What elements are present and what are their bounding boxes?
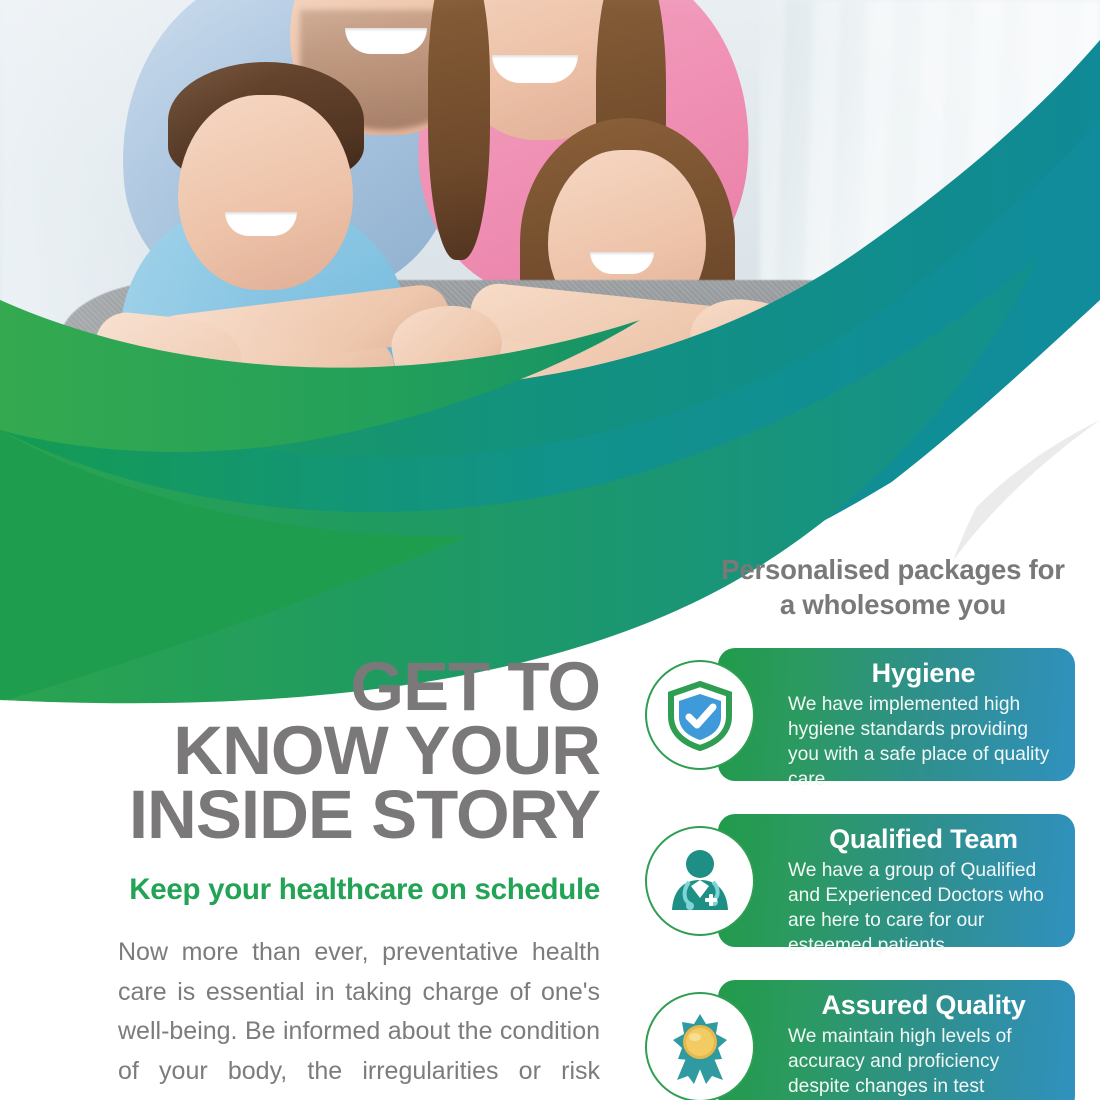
packages-title: Personalised packages for a wholesome yo… — [645, 552, 1075, 622]
package-card-hygiene[interactable]: Hygiene We have implemented high hygiene… — [645, 648, 1075, 788]
left-text-column: GET TO KNOW YOUR INSIDE STORY Keep your … — [118, 655, 600, 1100]
card-body: Qualified Team We have a group of Qualif… — [718, 814, 1075, 947]
packages-title-line-2: a wholesome you — [780, 589, 1006, 620]
doctor-icon — [645, 826, 755, 936]
packages-title-line-1: Personalised packages for — [721, 554, 1065, 585]
card-body: Assured Quality We maintain high levels … — [718, 980, 1075, 1100]
packages-column: Personalised packages for a wholesome yo… — [645, 552, 1075, 1100]
card-title: Hygiene — [788, 659, 1059, 689]
card-title: Assured Quality — [788, 991, 1059, 1021]
card-description: We have a group of Qualified and Experie… — [788, 859, 1059, 959]
package-card-assured-quality[interactable]: Assured Quality We maintain high levels … — [645, 980, 1075, 1100]
package-card-qualified-team[interactable]: Qualified Team We have a group of Qualif… — [645, 814, 1075, 954]
page-title: GET TO KNOW YOUR INSIDE STORY — [118, 655, 600, 847]
card-body: Hygiene We have implemented high hygiene… — [718, 648, 1075, 781]
shield-check-icon — [645, 660, 755, 770]
headline-line-3: INSIDE STORY — [129, 776, 600, 853]
card-description: We maintain high levels of accuracy and … — [788, 1025, 1059, 1100]
card-title: Qualified Team — [788, 825, 1059, 855]
card-description: We have implemented high hygiene standar… — [788, 693, 1059, 793]
subheading: Keep your healthcare on schedule — [118, 873, 600, 907]
flyer-page: GET TO KNOW YOUR INSIDE STORY Keep your … — [0, 0, 1100, 1100]
award-medal-icon — [645, 992, 755, 1100]
body-paragraph: Now more than ever, preventative health … — [118, 933, 600, 1100]
